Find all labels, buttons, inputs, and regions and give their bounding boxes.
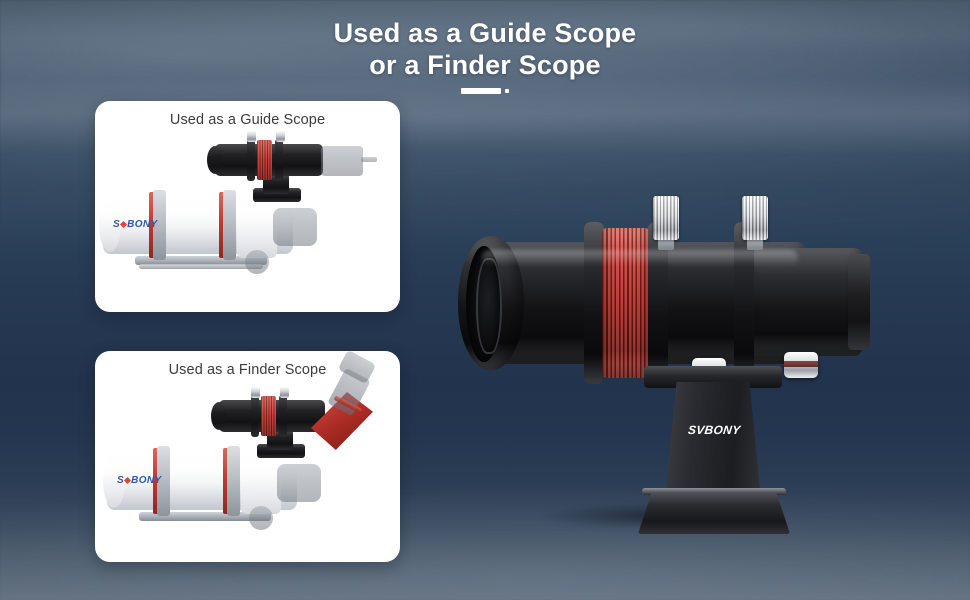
main-focuser-knob <box>245 250 269 274</box>
main-focuser-housing <box>237 196 277 258</box>
hero-mount-bracket <box>665 382 761 500</box>
guidescope-objective <box>207 146 223 174</box>
finderscope-thumbscrew-2 <box>280 387 289 398</box>
main-focuser-knob <box>249 506 273 530</box>
hero-rear-cap <box>848 254 870 350</box>
finderscope-collar-front <box>251 395 259 437</box>
tube-ring-clamp-rear <box>223 190 236 260</box>
title-line-1: Used as a Guide Scope <box>334 18 637 48</box>
main-focuser-drawtube <box>277 464 321 502</box>
title-divider <box>0 88 970 94</box>
main-tube-brand-logo: SBONY <box>113 219 158 230</box>
finderscope-thumbscrew-1 <box>251 387 260 398</box>
guidescope-collar-front <box>247 139 255 181</box>
product-banner: Used as a Guide Scope or a Finder Scope … <box>0 0 970 600</box>
hero-product-image: SVBONY <box>452 180 882 550</box>
guidescope-thumbscrew-1 <box>247 131 256 142</box>
tube-ring-clamp-rear <box>227 446 240 516</box>
finderscope-collar-rear <box>279 395 287 437</box>
guidescope-collar-rear <box>275 139 283 181</box>
guidescope-thumbscrew-2 <box>276 131 285 142</box>
hero-base-plate <box>638 492 790 534</box>
main-tube-brand-logo: SBONY <box>117 475 162 486</box>
title-line-2: or a Finder Scope <box>0 50 970 82</box>
hero-rear-barrel <box>744 248 862 356</box>
page-title: Used as a Guide Scope or a Finder Scope <box>0 18 970 81</box>
card-guide-scope-title: Used as a Guide Scope <box>95 101 400 128</box>
hero-collar-front <box>584 222 604 384</box>
finderscope-focus-ring <box>261 396 276 436</box>
objective-lens-lip-icon <box>476 258 502 354</box>
knurled-red-focus-ring <box>602 228 650 378</box>
card-finder-scope: Used as a Finder Scope SBONY <box>95 351 400 562</box>
hero-top-thumbscrew-1 <box>653 196 679 240</box>
card-guide-scope: Used as a Guide Scope SBONY <box>95 101 400 312</box>
hero-top-thumbscrew-2 <box>742 196 768 240</box>
guidescope-focus-ring <box>257 140 272 180</box>
guidescope-camera <box>321 146 363 176</box>
main-focuser-drawtube <box>273 208 317 246</box>
card-finder-scope-illustration: SBONY <box>95 380 400 546</box>
hero-bracket-brand-logo: SVBONY <box>687 423 758 437</box>
finderscope-objective <box>211 402 227 430</box>
guidescope-camera-nipple <box>361 157 377 162</box>
card-guide-scope-illustration: SBONY <box>95 130 400 296</box>
divider-dot-icon <box>505 89 509 93</box>
divider-bar-icon <box>461 88 501 94</box>
main-focuser-housing <box>241 452 281 514</box>
hero-side-thumbscrew-2 <box>784 352 818 378</box>
